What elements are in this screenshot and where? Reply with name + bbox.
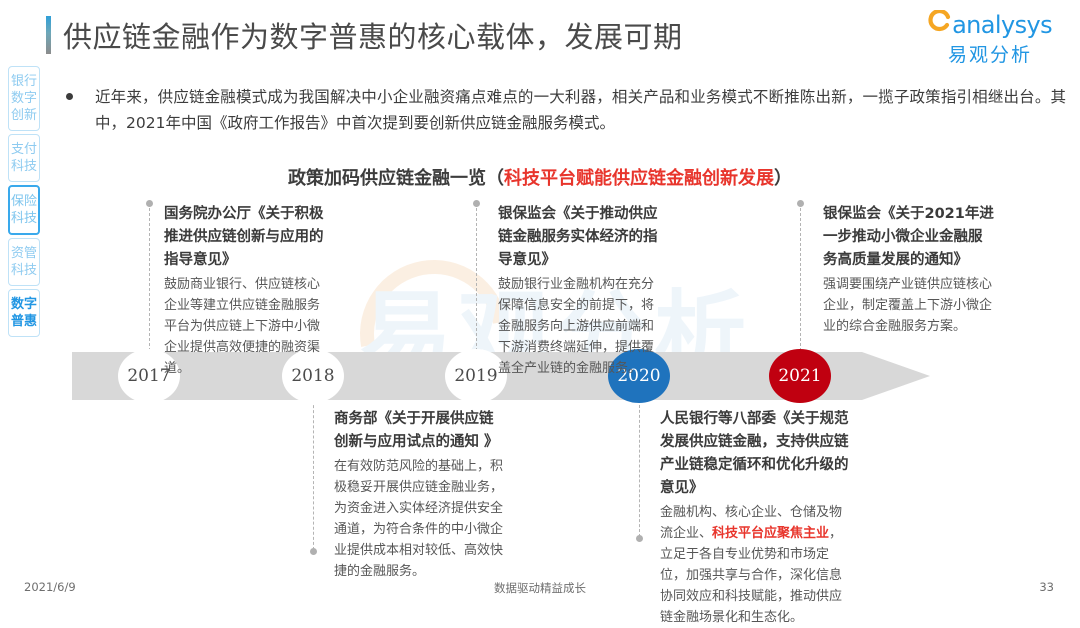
logo-mark: analysys: [928, 10, 1052, 37]
connector-dot-2020: [636, 535, 643, 542]
policy-card-title: 银保监会《关于2021年进一步推动小微企业金融服务高质量发展的通知》: [823, 203, 995, 272]
policy-card-title: 国务院办公厅《关于积极推进供应链创新与应用的指导意见》: [164, 203, 324, 272]
policy-card-body: 鼓励银行业金融机构在充分保障信息安全的前提下，将金融服务向上游供应前端和下游消费…: [498, 274, 661, 379]
section-title: 政策加码供应链金融一览（科技平台赋能供应链金融创新发展）: [0, 164, 1080, 190]
sidebar-item-label: 银行数字创新: [9, 73, 39, 124]
intro-text: 近年来，供应链金融模式成为我国解决中小企业融资痛点难点的一大利器，相关产品和业务…: [95, 84, 1066, 136]
connector-line-2019: [476, 203, 478, 351]
connector-dot-2018: [310, 548, 317, 555]
footer-page-number: 33: [1039, 580, 1054, 594]
policy-card-body: 鼓励商业银行、供应链核心企业等建立供应链金融服务平台为供应链上下游中小微企业提供…: [164, 274, 324, 379]
policy-card-2018[interactable]: 商务部《关于开展供应链创新与应用试点的通知 》 在有效防范风险的基础上，积极稳妥…: [334, 408, 504, 582]
policy-card-title: 银保监会《关于推动供应链金融服务实体经济的指导意见》: [498, 203, 661, 272]
sidebar-item-label: 保险科技: [10, 193, 38, 227]
logo-wordmark: analysys: [952, 13, 1052, 37]
sidebar-item-label: 数字普惠: [9, 296, 39, 330]
policy-card-2021[interactable]: 银保监会《关于2021年进一步推动小微企业金融服务高质量发展的通知》 强调要围绕…: [823, 203, 995, 337]
timeline-node-2021[interactable]: 2021: [769, 349, 831, 403]
page-footer: 2021/6/9 数据驱动精益成长 33: [0, 580, 1080, 600]
connector-line-2018: [313, 400, 315, 550]
page-title: 供应链金融作为数字普惠的核心载体，发展可期: [63, 14, 683, 56]
sidebar-item-asset-management-tech[interactable]: 资管科技: [8, 238, 40, 286]
sidebar-item-payment-tech[interactable]: 支付科技: [8, 134, 40, 182]
policy-card-title: 商务部《关于开展供应链创新与应用试点的通知 》: [334, 408, 504, 454]
footer-slogan: 数据驱动精益成长: [0, 580, 1080, 596]
policy-card-body: 强调要围绕产业链供应链核心企业，制定覆盖上下游小微企业的综合金融服务方案。: [823, 274, 995, 337]
connector-dot-2017: [146, 200, 153, 207]
section-title-tail: ）: [774, 168, 792, 189]
connector-line-2020: [639, 400, 641, 537]
connector-line-2021: [800, 203, 802, 351]
policy-card-body: 在有效防范风险的基础上，积极稳妥开展供应链金融业务，为资金进入实体经济提供安全通…: [334, 456, 504, 582]
page-header: 供应链金融作为数字普惠的核心载体，发展可期: [46, 14, 683, 56]
logo-chinese-name: 易观分析: [928, 40, 1052, 67]
policy-card-2017[interactable]: 国务院办公厅《关于积极推进供应链创新与应用的指导意见》 鼓励商业银行、供应链核心…: [164, 203, 324, 379]
connector-dot-2019: [473, 200, 480, 207]
policy-card-body: 金融机构、核心企业、仓储及物流企业、科技平台应聚焦主业，立足于各自专业优势和市场…: [660, 502, 850, 628]
connector-dot-2021: [797, 200, 804, 207]
intro-bullet: 近年来，供应链金融模式成为我国解决中小企业融资痛点难点的一大利器，相关产品和业务…: [66, 84, 1066, 136]
sidebar-nav: 银行数字创新 支付科技 保险科技 资管科技 数字普惠: [8, 66, 42, 340]
section-title-accent: 科技平台赋能供应链金融创新发展: [504, 168, 774, 189]
policy-card-title: 人民银行等八部委《关于规范发展供应链金融，支持供应链产业链稳定循环和优化升级的意…: [660, 408, 850, 500]
policy-body-highlight: 科技平台应聚焦主业: [712, 526, 829, 541]
sidebar-item-label: 资管科技: [9, 245, 39, 279]
connector-line-2017: [149, 203, 151, 351]
sidebar-item-insurance-tech[interactable]: 保险科技: [8, 185, 40, 235]
section-title-main: 政策加码供应链金融一览（: [288, 168, 504, 189]
policy-card-2019[interactable]: 银保监会《关于推动供应链金融服务实体经济的指导意见》 鼓励银行业金融机构在充分保…: [498, 203, 661, 379]
logo-arc-icon: [928, 10, 951, 33]
sidebar-item-bank-digital-innovation[interactable]: 银行数字创新: [8, 66, 40, 131]
timeline-arrow-tip-icon: [862, 352, 930, 400]
sidebar-item-digital-inclusive[interactable]: 数字普惠: [8, 289, 40, 337]
sidebar-item-label: 支付科技: [9, 141, 39, 175]
bullet-dot-icon: [66, 93, 73, 100]
title-accent-bar: [46, 16, 51, 54]
brand-logo: analysys 易观分析: [928, 10, 1052, 67]
